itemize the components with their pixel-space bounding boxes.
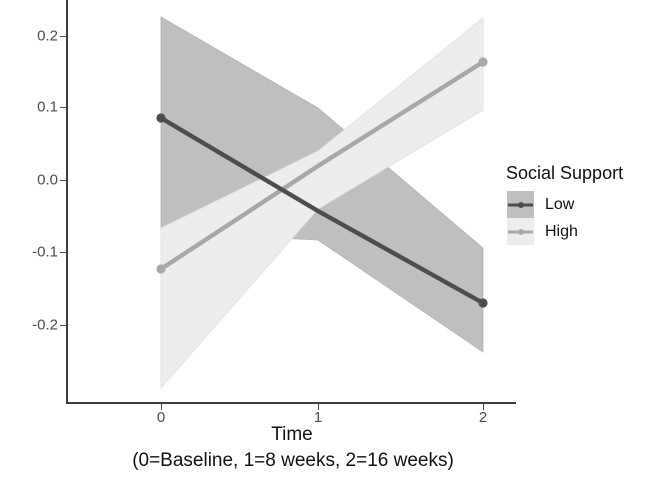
y-tick-label-3: -0.1 [12,244,58,261]
y-axis-line [66,0,68,403]
plot-panel [68,0,516,402]
y-tick-label-0: 0.2 [12,28,58,45]
legend-item-high[interactable]: High [507,218,653,245]
y-tick-label-4: -0.2 [12,317,58,334]
data-point-low-0 [156,113,165,122]
legend: Social Support Low High [506,163,653,245]
legend-items: Low High [507,191,653,245]
legend-item-low[interactable]: Low [507,191,653,218]
legend-key-high [507,218,534,245]
x-axis-subtitle: (0=Baseline, 1=8 weeks, 2=16 weeks) [28,450,558,472]
legend-title: Social Support [506,163,653,184]
legend-label-low: Low [545,196,574,214]
chart-figure: Family Mealtime Quality 0.2 0.1 0.0 -0.1… [0,0,653,484]
plot-svg [68,0,516,402]
legend-key-dot-high [518,229,524,235]
x-axis-title: Time [68,424,516,446]
legend-key-low [507,191,534,218]
x-axis-line [66,402,516,404]
data-point-high-0 [156,264,165,273]
y-tick-label-1: 0.1 [12,99,58,116]
legend-key-dot-low [518,202,524,208]
y-axis-ticks: 0.2 0.1 0.0 -0.1 -0.2 [8,0,58,484]
data-point-low-2 [478,298,487,307]
legend-label-high: High [545,223,578,241]
data-point-high-2 [478,57,487,66]
y-tick-label-2: 0.0 [12,172,58,189]
